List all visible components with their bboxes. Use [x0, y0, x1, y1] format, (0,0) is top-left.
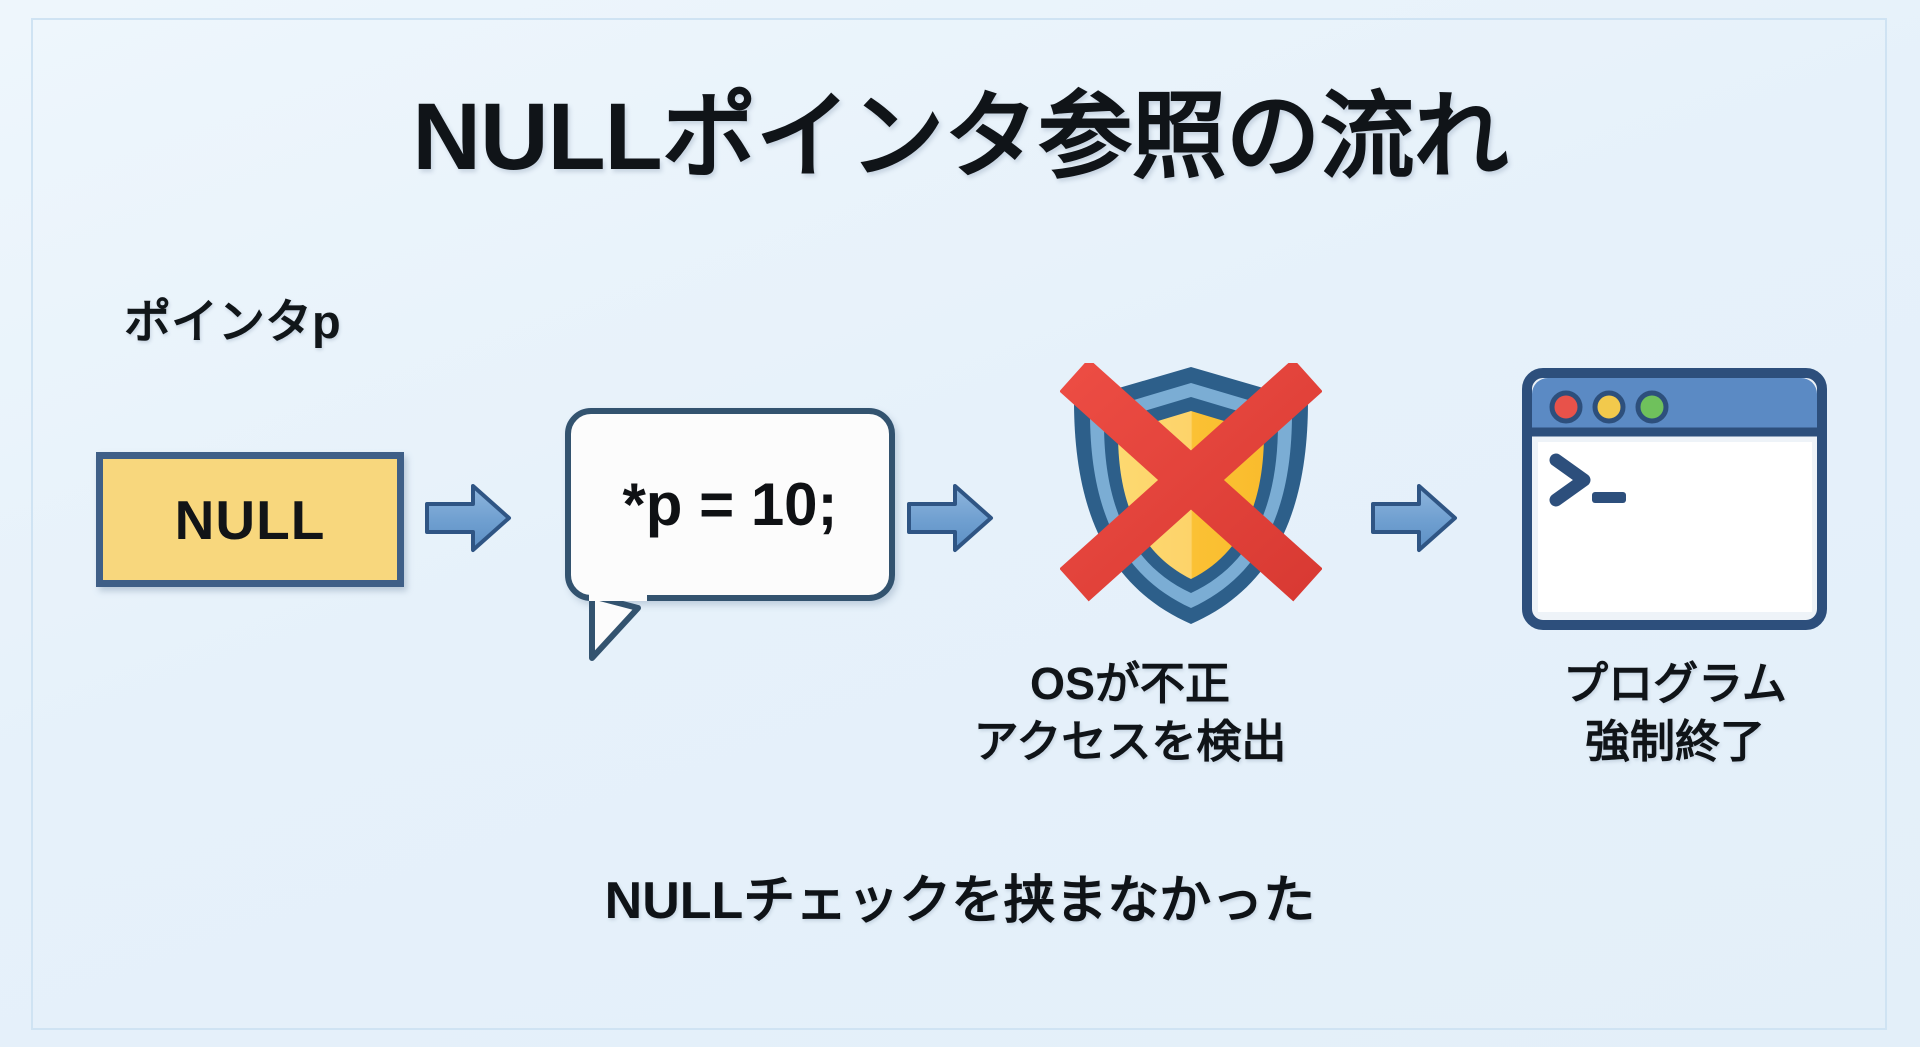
os-detect-caption-line1: OSが不正: [900, 655, 1360, 713]
arrow-right-icon: [1370, 480, 1458, 556]
page-title: NULLポインタ参照の流れ: [0, 60, 1920, 197]
program-terminated-caption: プログラム 強制終了: [1450, 655, 1900, 770]
speech-bubble-tail: [586, 594, 696, 664]
code-statement-text: *p = 10;: [622, 470, 837, 539]
slide-canvas: NULLポインタ参照の流れ ポインタp NULL *p = 10;: [0, 0, 1920, 1047]
arrow-right-icon: [424, 480, 512, 556]
null-value-box: NULL: [96, 452, 404, 587]
null-value-text: NULL: [175, 488, 326, 552]
os-detect-caption: OSが不正 アクセスを検出: [900, 655, 1360, 770]
code-speech-bubble: *p = 10;: [565, 408, 895, 601]
program-terminated-caption-line1: プログラム: [1450, 655, 1900, 713]
program-terminated-caption-line2: 強制終了: [1450, 713, 1900, 771]
terminal-window-icon: [1522, 368, 1827, 630]
footer-note: NULLチェックを挟まなかった: [0, 858, 1920, 933]
shield-blocked-icon: [1060, 363, 1322, 628]
arrow-right-icon: [906, 480, 994, 556]
os-detect-caption-line2: アクセスを検出: [900, 713, 1360, 771]
pointer-label: ポインタp: [124, 283, 341, 352]
